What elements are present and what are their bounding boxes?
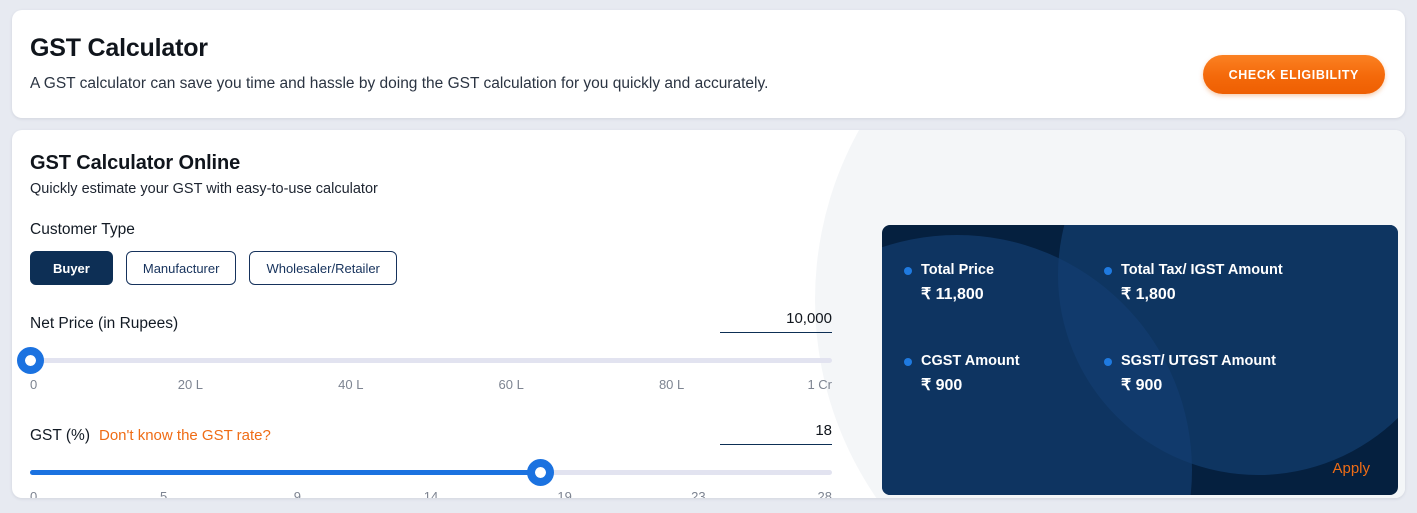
result-value: ₹ 900 (921, 376, 1020, 396)
calculator-subtitle: Quickly estimate your GST with easy-to-u… (30, 181, 1405, 197)
results-panel: Total Price ₹ 11,800 Total Tax/ IGST Amo… (882, 225, 1398, 495)
dont-know-gst-rate-link[interactable]: Don't know the GST rate? (99, 427, 271, 444)
net-price-group: Net Price (in Rupees) 020 L40 L60 L80 L1… (30, 309, 832, 397)
apply-link[interactable]: Apply (1332, 460, 1370, 477)
result-value: ₹ 11,800 (921, 285, 994, 305)
gst-rate-ticks: 05914192328 (30, 489, 832, 498)
slider-tick: 28 (818, 489, 832, 498)
result-label: Total Tax/ IGST Amount (1121, 260, 1283, 280)
slider-tick: 23 (691, 489, 705, 498)
net-price-slider[interactable] (30, 347, 832, 375)
bullet-dot-icon (1104, 358, 1112, 366)
page-title: GST Calculator (30, 32, 1381, 64)
net-price-track[interactable] (30, 358, 832, 363)
result-sgst-utgst: SGST/ UTGST Amount ₹ 900 (1104, 351, 1398, 396)
result-value: ₹ 1,800 (1121, 285, 1283, 305)
gst-rate-group: GST (%) Don't know the GST rate? 0591419… (30, 421, 832, 498)
slider-tick: 0 (30, 489, 37, 498)
net-price-ticks: 020 L40 L60 L80 L1 Cr (30, 377, 832, 397)
result-total-tax-igst: Total Tax/ IGST Amount ₹ 1,800 (1104, 260, 1398, 305)
page-subtitle: A GST calculator can save you time and h… (30, 74, 1381, 94)
gst-rate-header: GST (%) Don't know the GST rate? (30, 421, 832, 445)
slider-tick: 40 L (338, 377, 363, 392)
net-price-input[interactable] (720, 310, 832, 333)
slider-tick: 80 L (659, 377, 684, 392)
slider-tick: 0 (30, 377, 37, 392)
result-cgst: CGST Amount ₹ 900 (904, 351, 1104, 396)
result-value: ₹ 900 (1121, 376, 1276, 396)
result-label: SGST/ UTGST Amount (1121, 351, 1276, 371)
net-price-thumb[interactable] (17, 347, 44, 374)
bullet-dot-icon (904, 358, 912, 366)
bullet-dot-icon (1104, 267, 1112, 275)
results-grid: Total Price ₹ 11,800 Total Tax/ IGST Amo… (882, 225, 1398, 396)
slider-tick: 20 L (178, 377, 203, 392)
net-price-header: Net Price (in Rupees) (30, 309, 832, 333)
result-total-price: Total Price ₹ 11,800 (904, 260, 1104, 305)
slider-tick: 19 (557, 489, 571, 498)
gst-rate-track-fill (30, 470, 541, 475)
page-root: GST Calculator A GST calculator can save… (0, 0, 1417, 513)
net-price-label: Net Price (in Rupees) (30, 315, 178, 333)
result-label: CGST Amount (921, 351, 1020, 371)
result-label: Total Price (921, 260, 994, 280)
slider-tick: 60 L (499, 377, 524, 392)
slider-tick: 1 Cr (807, 377, 832, 392)
calculator-title: GST Calculator Online (30, 152, 1405, 175)
calculator-card: GST Calculator Online Quickly estimate y… (12, 130, 1405, 498)
header-card: GST Calculator A GST calculator can save… (12, 10, 1405, 118)
gst-rate-thumb[interactable] (527, 459, 554, 486)
gst-rate-slider[interactable] (30, 459, 832, 487)
customer-type-manufacturer[interactable]: Manufacturer (126, 251, 237, 285)
check-eligibility-button[interactable]: CHECK ELIGIBILITY (1203, 55, 1385, 94)
bullet-dot-icon (904, 267, 912, 275)
slider-tick: 14 (424, 489, 438, 498)
gst-rate-input[interactable] (720, 422, 832, 445)
slider-tick: 9 (294, 489, 301, 498)
slider-tick: 5 (160, 489, 167, 498)
customer-type-wholesaler-retailer[interactable]: Wholesaler/Retailer (249, 251, 396, 285)
customer-type-buyer[interactable]: Buyer (30, 251, 113, 285)
gst-rate-label: GST (%) (30, 427, 90, 445)
